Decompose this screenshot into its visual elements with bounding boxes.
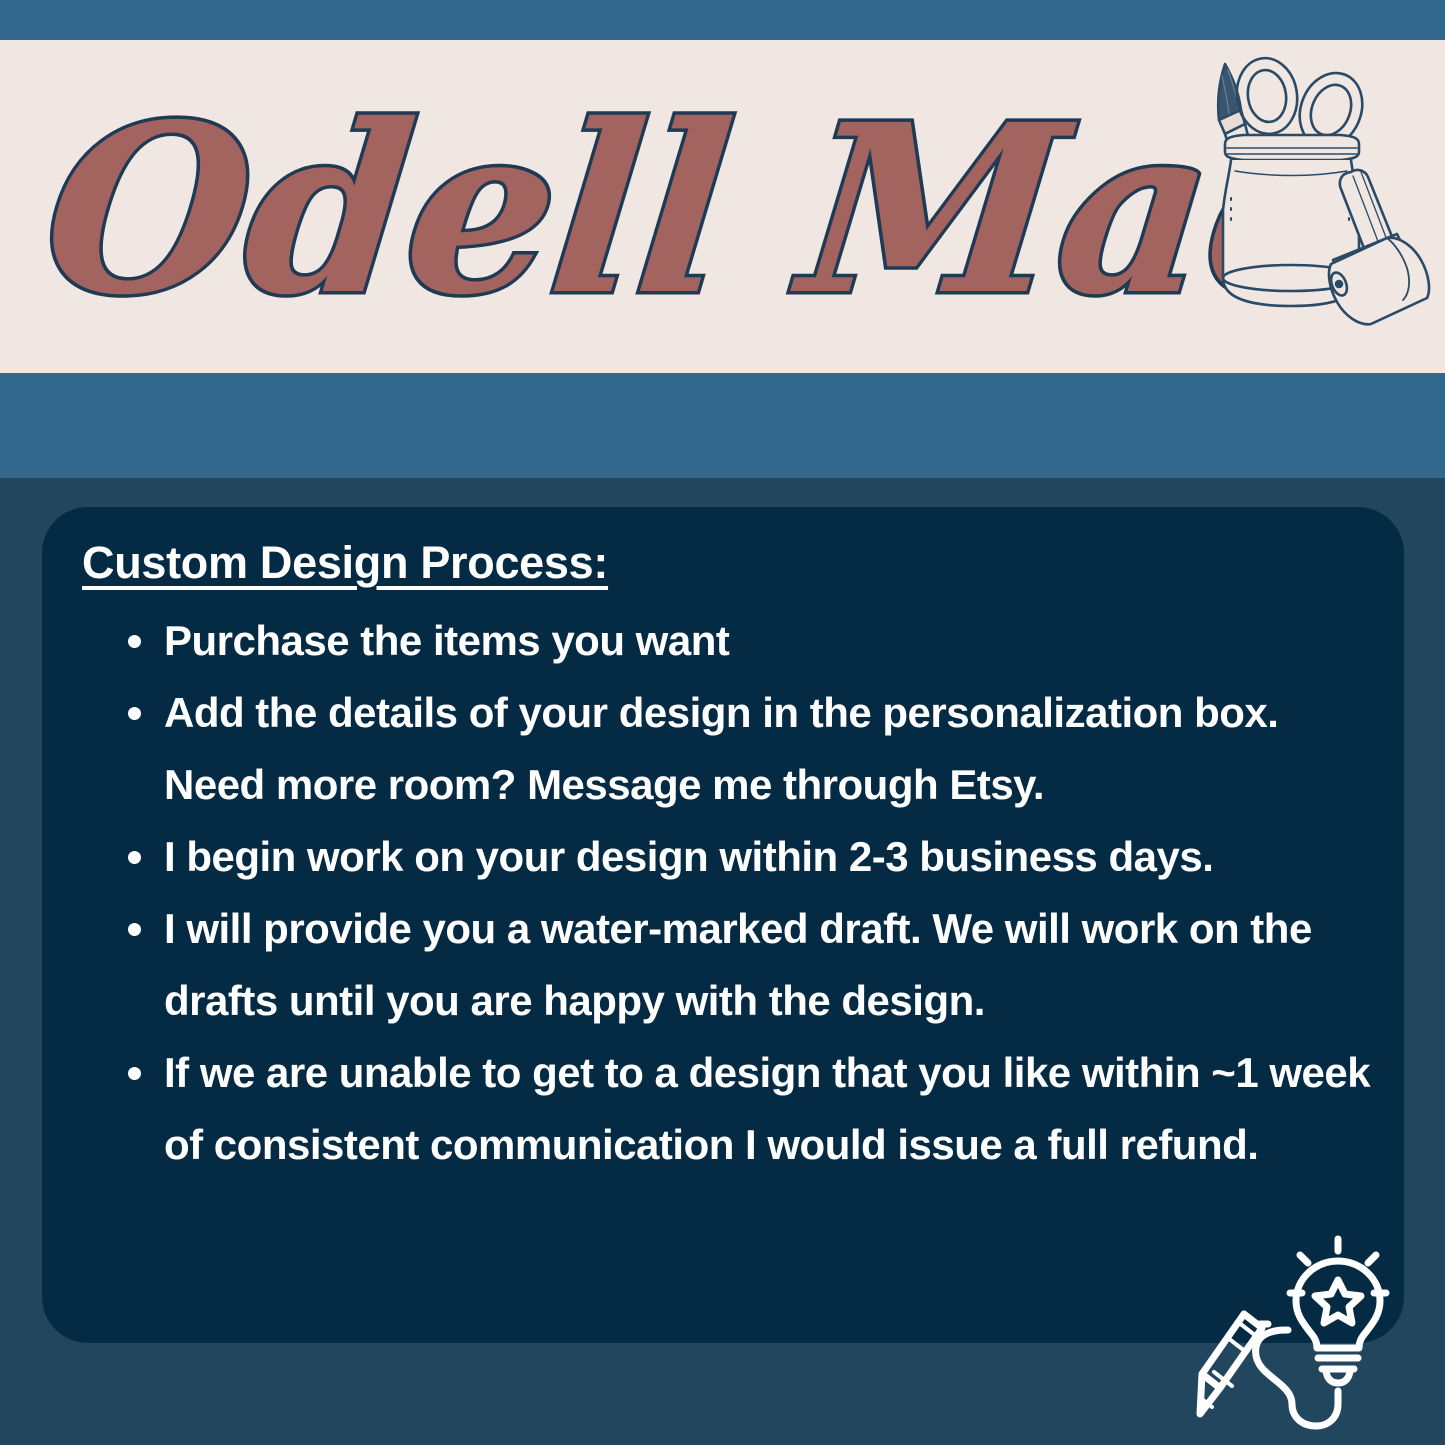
process-step-list: Purchase the items you want Add the deta… [120,605,1390,1181]
lightbulb-pencil-idea-icon [1192,1228,1407,1433]
brand-wordmark: Odell Mae [34,76,1183,351]
custom-design-process-card: Custom Design Process: Purchase the item… [42,507,1404,1343]
list-item: If we are unable to get to a design that… [120,1037,1390,1181]
bullet-dot-icon [128,635,141,648]
list-item-label: Add the details of your design in the pe… [164,689,1278,808]
list-item: I will provide you a water-marked draft.… [120,893,1390,1037]
mid-accent-band [0,373,1445,478]
list-item-label: Purchase the items you want [164,617,729,664]
page-title: Custom Design Process: [82,537,608,589]
bullet-dot-icon [128,1067,141,1080]
list-item-label: If we are unable to get to a design that… [164,1049,1370,1168]
bullet-dot-icon [128,851,141,864]
list-item-label: I begin work on your design within 2-3 b… [164,833,1213,880]
list-item: Purchase the items you want [120,605,1390,677]
list-item-label: I will provide you a water-marked draft.… [164,905,1312,1024]
poster-canvas: Odell Mae [0,0,1445,1445]
list-item: Add the details of your design in the pe… [120,677,1390,821]
list-item: I begin work on your design within 2-3 b… [120,821,1390,893]
bullet-dot-icon [128,923,141,936]
brand-banner: Odell Mae [0,40,1445,373]
craft-jar-brush-scissors-roller-icon [1181,48,1431,348]
bullet-dot-icon [128,707,141,720]
top-accent-strip [0,0,1445,40]
